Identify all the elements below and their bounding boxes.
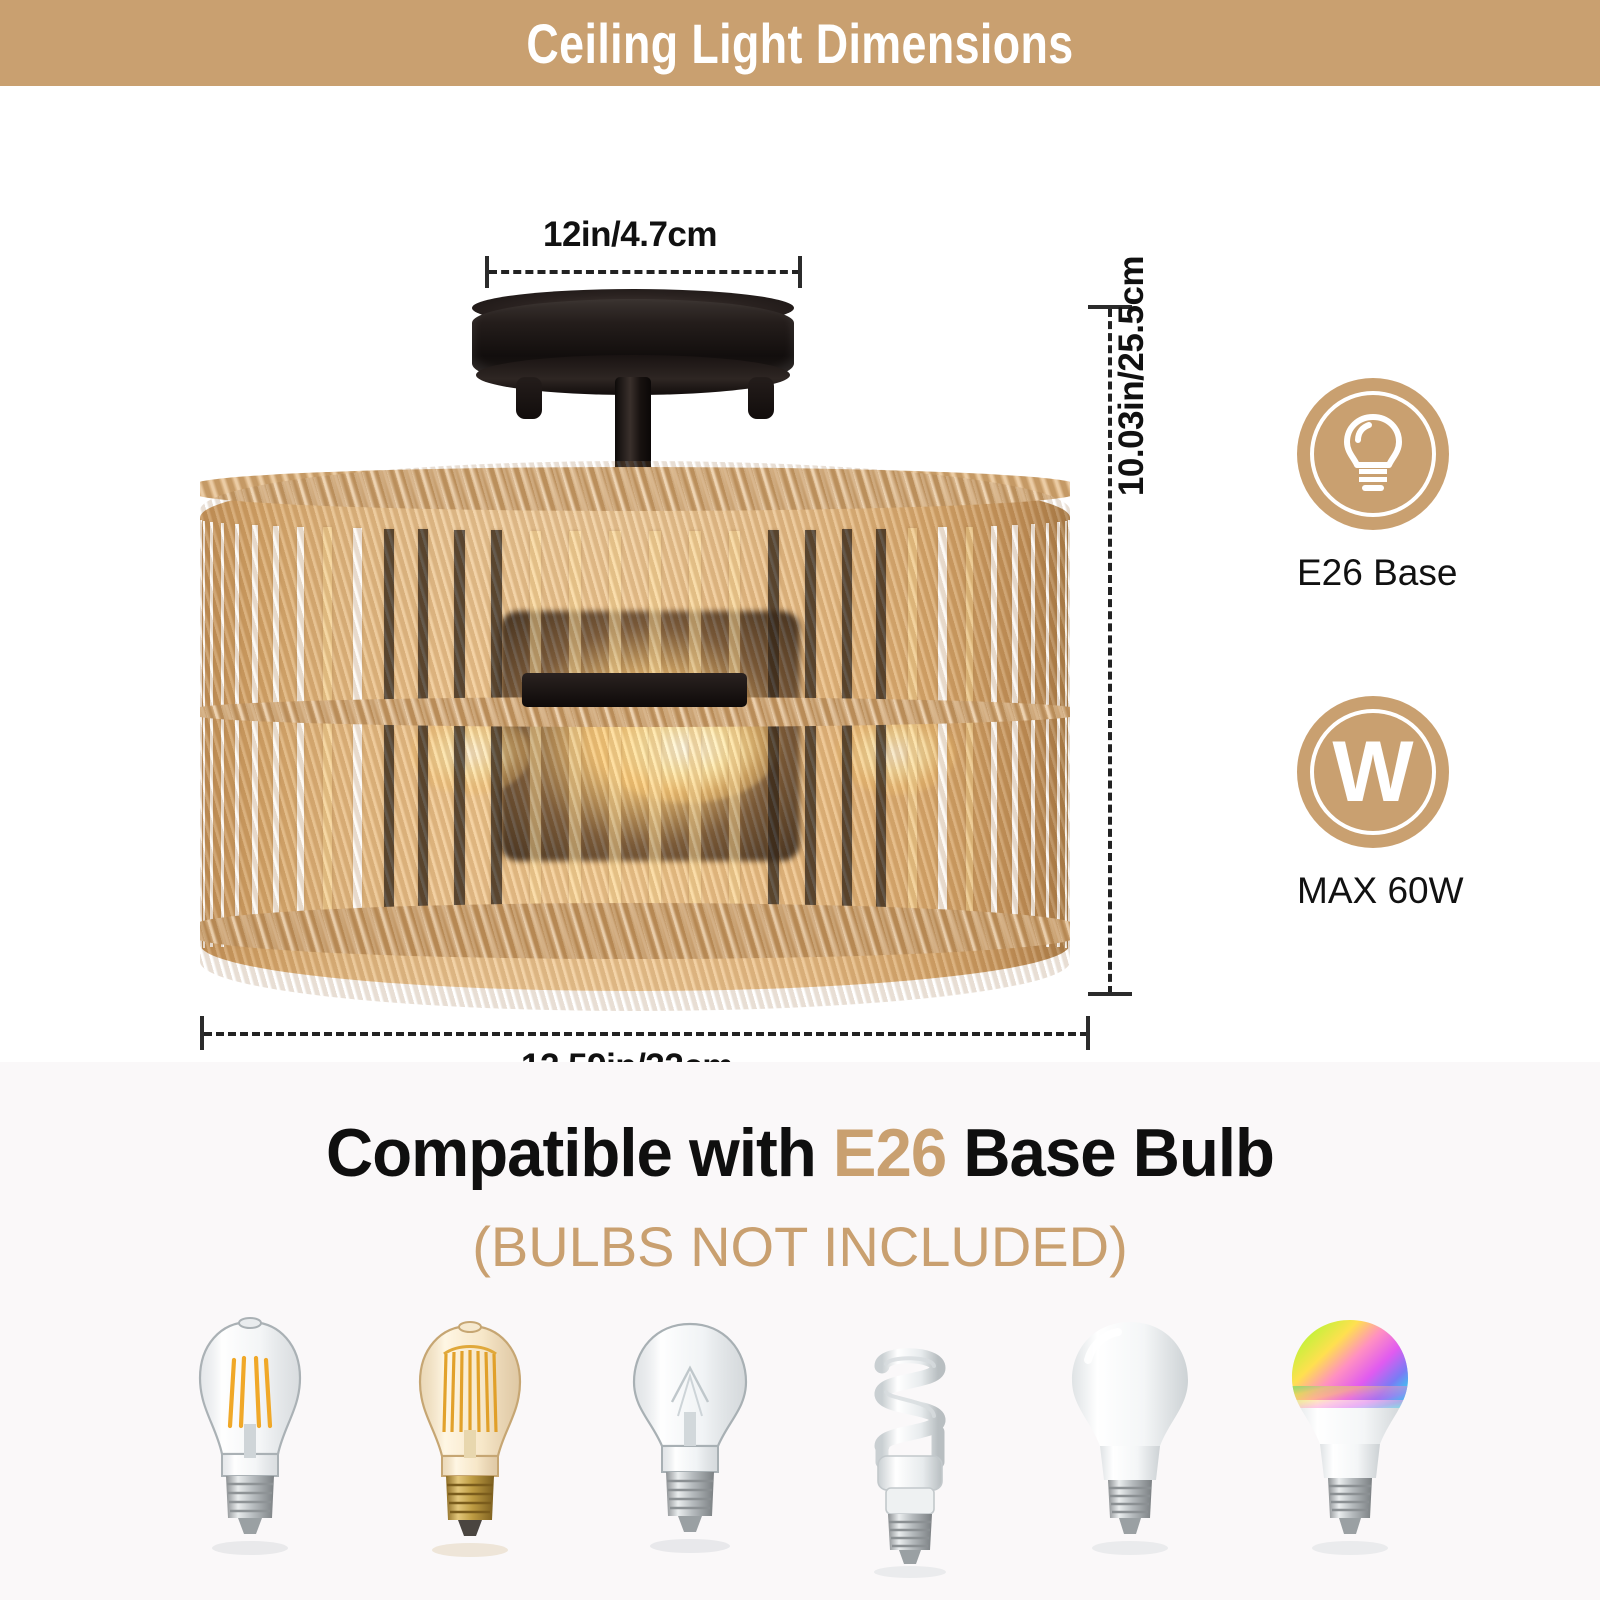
cfl-spiral-bulb — [820, 1304, 1000, 1584]
bulbs-not-included-note: (BULBS NOT INCLUDED) — [0, 1214, 1600, 1279]
rope-slat-gap — [235, 524, 240, 946]
width-dimension-line — [204, 1032, 1088, 1036]
rope-slat-gap — [210, 522, 213, 948]
fixture-height-label: 10.03in/25.5cm — [1112, 236, 1152, 516]
white-led-bulb — [1040, 1304, 1220, 1584]
badge-circle — [1297, 378, 1449, 530]
rope-slat-gap — [297, 527, 305, 945]
rope-slat-gap — [768, 530, 779, 942]
rope-slat-gap — [966, 527, 974, 945]
clear-incandescent-bulb — [600, 1304, 780, 1584]
vintage-edison-bulb — [380, 1304, 560, 1584]
rope-slat-gap — [649, 531, 661, 942]
badge-inner-ring — [1310, 709, 1436, 835]
rope-slat-gap — [200, 520, 202, 949]
rope-slat-gap — [353, 528, 362, 943]
rope-slat-gap — [805, 530, 816, 942]
rope-slat-gap — [491, 530, 502, 942]
compatible-bulbs-row — [0, 1284, 1600, 1584]
rope-slat-gap — [454, 530, 465, 942]
badge-circle: W — [1297, 696, 1449, 848]
st64-led-filament-bulb — [160, 1304, 340, 1584]
rope-band-bottom — [200, 903, 1070, 959]
badge-inner-ring — [1310, 391, 1436, 517]
rope-slat-gap — [876, 529, 886, 943]
badge-e26-base: E26 Base — [1297, 378, 1449, 594]
dimensions-section: 12in/4.7cm 10.03in/25.5cm 12.59in/32cm — [0, 86, 1600, 1062]
rope-slat-gap — [418, 529, 428, 942]
socket-plate — [522, 673, 747, 707]
badge-caption: MAX 60W — [1297, 870, 1449, 912]
compatibility-section: Compatible with E26 Base Bulb (BULBS NOT… — [0, 1062, 1600, 1600]
compatibility-title: Compatible with E26 Base Bulb — [32, 1114, 1568, 1192]
rope-slat-gap — [273, 526, 280, 945]
rope-slat-gap — [530, 531, 541, 942]
rope-slat-gap — [1012, 525, 1018, 946]
ceiling-light-product-image — [170, 281, 1110, 1011]
rope-drum-shade — [200, 461, 1070, 1011]
rope-slat-gap — [938, 527, 946, 943]
canopy-screw-left — [516, 377, 542, 419]
compat-title-part2: Base Bulb — [946, 1115, 1274, 1191]
badge-max-wattage: W MAX 60W — [1297, 696, 1449, 912]
rope-slat-gap — [384, 529, 394, 943]
top-dimension-line — [489, 270, 800, 274]
rope-slat-gap — [1065, 521, 1068, 948]
canopy-screw-right — [748, 377, 774, 419]
compat-title-part1: Compatible with — [326, 1115, 833, 1191]
rope-slat-gap — [1057, 522, 1060, 948]
rope-slat-gap — [1068, 520, 1070, 949]
header-banner: Ceiling Light Dimensions — [0, 0, 1600, 86]
rope-slat-gap — [252, 525, 258, 946]
badge-caption: E26 Base — [1297, 552, 1449, 594]
rope-slat-gap — [609, 531, 621, 942]
rope-band-top — [200, 467, 1070, 511]
rope-slat-gap — [908, 528, 917, 943]
compat-title-accent: E26 — [833, 1115, 946, 1191]
rgb-smart-bulb — [1260, 1304, 1440, 1584]
rope-slat-gap — [221, 523, 225, 947]
rope-slat-gap — [1031, 524, 1036, 946]
rope-slat-gap — [569, 531, 581, 942]
rope-slat-gap — [1046, 523, 1050, 947]
rope-slat-gap — [689, 531, 701, 942]
rope-slat-gap — [842, 529, 852, 942]
rope-slat-gap — [203, 521, 206, 948]
canopy-diameter-label: 12in/4.7cm — [543, 215, 717, 255]
rope-slat-gap — [323, 527, 331, 943]
rope-slat-gap — [991, 526, 998, 945]
rope-slat-gap — [729, 531, 740, 942]
width-dimension-tick-right — [1086, 1016, 1090, 1050]
page-title: Ceiling Light Dimensions — [526, 11, 1073, 76]
